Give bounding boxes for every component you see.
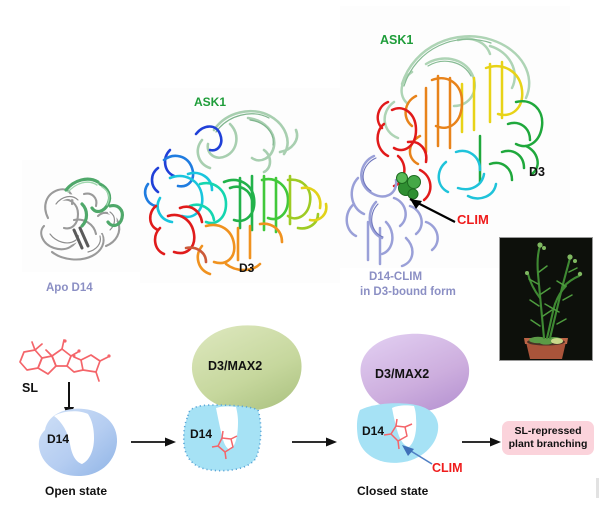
- scrollbar-thumb[interactable]: [596, 478, 599, 498]
- clim-schematic-arrow-svg: [396, 442, 434, 466]
- d14-clim-d3-ribbon: [340, 6, 570, 268]
- plant-photo: [499, 237, 593, 361]
- closed-state-label: Closed state: [357, 485, 428, 499]
- outcome-line1: SL-repressed: [509, 425, 588, 438]
- outcome-caption-box: SL-repressed plant branching: [502, 421, 594, 455]
- clim-label-schematic: CLIM: [432, 461, 463, 475]
- flow-arrow-1-svg: [131, 435, 177, 449]
- sl-molecule: [14, 330, 114, 382]
- d3max2-purple-label: D3/MAX2: [375, 367, 429, 381]
- d14-open-shape: [32, 406, 122, 478]
- d14-closed-label: D14: [362, 425, 384, 439]
- d3max2-green-label: D3/MAX2: [208, 359, 262, 373]
- clim-label-panel3: CLIM: [457, 213, 489, 228]
- structure-panel-ask1-d3: [140, 88, 340, 283]
- structure-panel-d14-clim-d3: [340, 6, 570, 268]
- flow-arrow-3: [462, 435, 502, 449]
- d14-open-blob: [32, 406, 122, 478]
- open-state-label: Open state: [45, 485, 107, 499]
- ask1-label-panel2: ASK1: [194, 96, 226, 110]
- ask1-label-panel3: ASK1: [380, 33, 413, 47]
- flow-arrow-1: [131, 435, 177, 449]
- d14-bound-label: D14: [190, 428, 212, 442]
- clim-schematic-arrow: [396, 442, 434, 466]
- structure-panel-apo-d14: [22, 160, 144, 272]
- ask1-d3-ribbon: [140, 88, 340, 283]
- graphical-abstract-figure: Apo D14: [0, 0, 600, 507]
- arabidopsis-plant-image: [500, 238, 592, 360]
- flow-arrow-3-svg: [462, 435, 502, 449]
- d3-label-panel3: D3: [529, 165, 545, 179]
- clim-arrow-svg: [398, 192, 458, 226]
- sl-label: SL: [22, 381, 38, 395]
- d3-label-panel2: D3: [239, 262, 254, 276]
- clim-pointer-arrow: [398, 192, 458, 226]
- strigolactone-structure: [14, 330, 114, 382]
- d14-clim-caption-line2: in D3-bound form: [360, 286, 456, 299]
- d14-open-label: D14: [47, 433, 69, 447]
- apo-d14-label: Apo D14: [46, 282, 93, 295]
- scrollbar-track[interactable]: [595, 0, 600, 507]
- flow-arrow-2: [292, 435, 338, 449]
- d14-clim-caption-line1: D14-CLIM: [369, 271, 422, 284]
- outcome-line2: plant branching: [509, 438, 588, 451]
- apo-d14-ribbon: [22, 160, 144, 272]
- flow-arrow-2-svg: [292, 435, 338, 449]
